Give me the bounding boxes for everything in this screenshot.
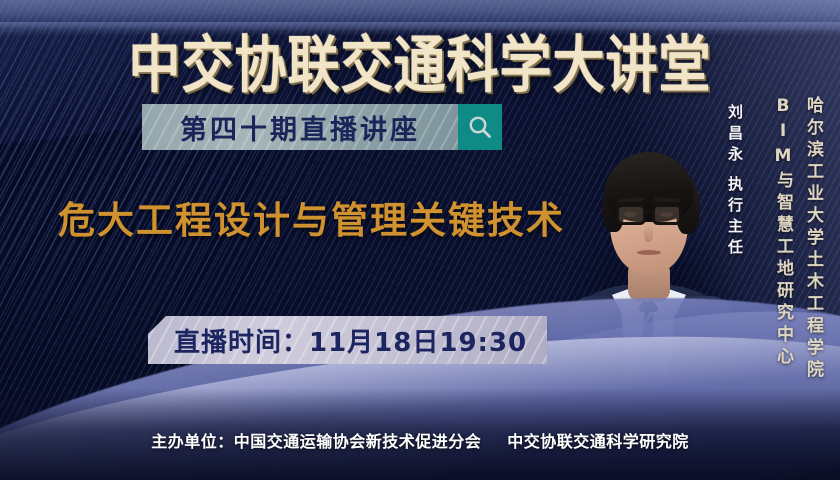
footer-organizers: 主办单位：中国交通运输协会新技术促进分会中交协联交通科学研究院 [0, 428, 840, 452]
footer-organizer-secondary: 中交协联交通科学研究院 [507, 432, 689, 451]
live-time-label: 直播时间：11月18日19:30 [174, 322, 527, 359]
subtitle-bar: 第四十期直播讲座 [142, 104, 502, 150]
speaker-affiliation-school: 哈尔滨工业大学土木工程学院 [801, 96, 826, 382]
subtitle-bar-panel: 第四十期直播讲座 [142, 104, 458, 150]
footer-organizer-primary: 主办单位：中国交通运输协会新技术促进分会 [151, 432, 481, 451]
speaker-name: 刘昌永 [725, 104, 746, 167]
portrait-nose [644, 224, 653, 242]
portrait-mouth [637, 250, 661, 255]
speaker-role: 执行主任 [725, 176, 746, 260]
subtitle-label: 第四十期直播讲座 [180, 108, 420, 147]
search-icon[interactable] [458, 104, 502, 150]
speaker-affiliation-center: BIM与智慧工地研究中心 [771, 96, 796, 369]
live-time-banner: 直播时间：11月18日19:30 [148, 316, 547, 364]
poster-canvas: 中交协联交通科学大讲堂 第四十期直播讲座 危大工程设计与管理关键技术 直播时间：… [0, 0, 840, 480]
topic-title: 危大工程设计与管理关键技术 [58, 190, 565, 244]
portrait-glasses-left-lens [616, 204, 646, 225]
portrait-glasses-right-lens [652, 204, 682, 225]
page-title: 中交协联交通科学大讲堂 [0, 15, 840, 103]
portrait-glasses-bridge [645, 210, 654, 213]
